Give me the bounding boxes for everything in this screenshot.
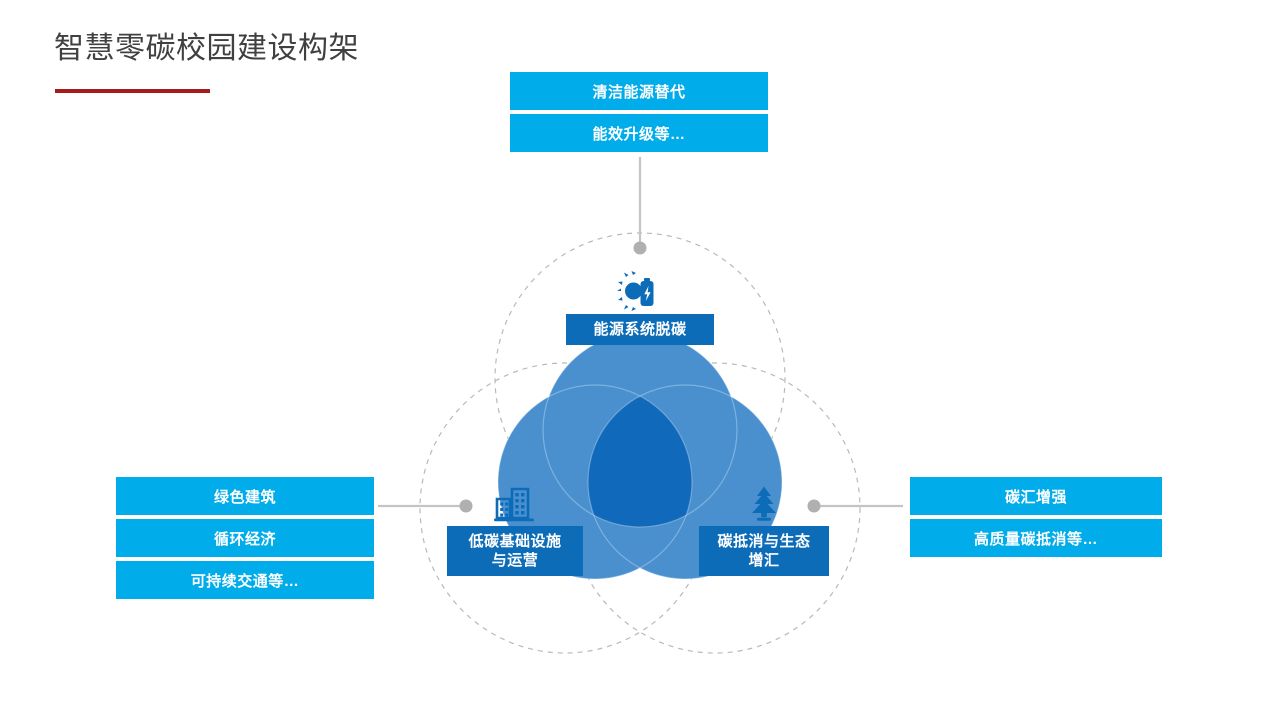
tree-icon	[744, 485, 784, 523]
venn-node-energy[interactable]: 能源系统脱碳	[566, 271, 714, 345]
tag-box[interactable]: 清洁能源替代	[510, 72, 768, 110]
venn-node-label: 碳抵消与生态 增汇	[699, 526, 829, 576]
tag-stack-right: 碳汇增强 高质量碳抵消等…	[910, 477, 1162, 557]
tag-box[interactable]: 可持续交通等…	[116, 561, 374, 599]
tag-box[interactable]: 能效升级等…	[510, 114, 768, 152]
tag-box[interactable]: 循环经济	[116, 519, 374, 557]
tag-box[interactable]: 碳汇增强	[910, 477, 1162, 515]
tag-box[interactable]: 绿色建筑	[116, 477, 374, 515]
venn-node-label: 能源系统脱碳	[566, 314, 714, 345]
tag-box[interactable]: 高质量碳抵消等…	[910, 519, 1162, 557]
connector-dot-top	[634, 242, 647, 255]
venn-node-label: 低碳基础设施 与运营	[447, 526, 583, 576]
venn-node-offset[interactable]: 碳抵消与生态 增汇	[699, 485, 829, 576]
tag-stack-top: 清洁能源替代 能效升级等…	[510, 72, 768, 152]
solar-battery-icon	[617, 271, 663, 311]
tag-stack-left: 绿色建筑 循环经济 可持续交通等…	[116, 477, 374, 599]
building-icon	[494, 485, 536, 523]
venn-node-infrastructure[interactable]: 低碳基础设施 与运营	[447, 485, 583, 576]
